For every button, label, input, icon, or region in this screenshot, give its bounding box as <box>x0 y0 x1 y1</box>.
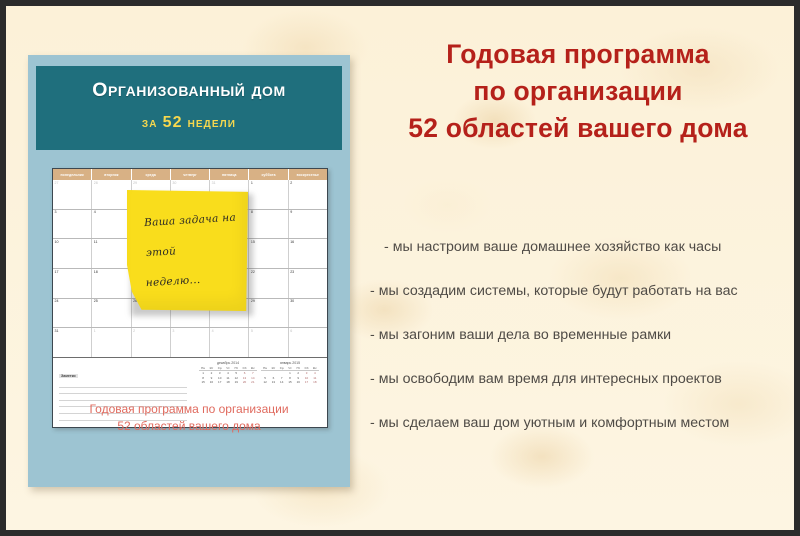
calendar-day-number: 30 <box>290 299 294 303</box>
benefit-item: -мы создадим системы, которые будут рабо… <box>370 283 790 299</box>
mini-month-day: 18 <box>311 380 319 384</box>
mini-month-week-row: 15161718192021 <box>199 380 257 384</box>
mini-month-day: 13 <box>269 380 277 384</box>
calendar-day-cell: 17 <box>53 269 92 298</box>
calendar-day-number: 16 <box>290 240 294 244</box>
calendar-day-number: 1 <box>251 181 253 185</box>
mini-month-calendar: январь 2015ПнВтСрЧтПтСбВс123456789101112… <box>261 361 319 385</box>
calendar-day-number: 17 <box>55 270 59 274</box>
calendar-day-header: воскресенье <box>289 169 327 180</box>
benefit-text: мы настроим ваше домашнее хозяйство как … <box>393 239 722 255</box>
calendar-day-number: 5 <box>251 329 253 333</box>
book-cover: Организованный дом за 52 недели понедель… <box>28 55 350 487</box>
mini-month-day: 18 <box>224 380 232 384</box>
calendar-day-cell: 25 <box>92 299 131 328</box>
note-line <box>59 381 187 388</box>
benefit-item: -мы загоним ваши дела во временные рамки <box>370 327 790 343</box>
mini-month-title: декабрь 2014 <box>199 361 257 365</box>
benefit-item: -мы сделаем ваш дом уютным и комфортным … <box>370 415 790 431</box>
calendar-week-row: 31123456 <box>53 327 327 357</box>
benefit-text: мы сделаем ваш дом уютным и комфортным м… <box>379 415 730 431</box>
calendar-day-number: 25 <box>94 299 98 303</box>
calendar-day-number: 27 <box>55 181 59 185</box>
calendar-day-number: 28 <box>94 181 98 185</box>
calendar-day-cell: 3 <box>53 210 92 239</box>
benefit-item: -мы настроим ваше домашнее хозяйство как… <box>370 239 790 255</box>
calendar-day-number: 18 <box>94 270 98 274</box>
calendar-day-cell: 31 <box>53 328 92 357</box>
calendar-day-header: четверг <box>171 169 210 180</box>
calendar-day-cell: 8 <box>249 210 288 239</box>
mini-month-day: 21 <box>249 380 257 384</box>
calendar-day-cell: 9 <box>289 210 327 239</box>
mini-month-day: 20 <box>240 380 248 384</box>
mini-month-day: 15 <box>286 380 294 384</box>
bullet-dash-icon: - <box>370 327 375 343</box>
headline-line3: 52 областей вашего дома <box>366 110 790 147</box>
benefit-item: -мы освободим вам время для интересных п… <box>370 371 790 387</box>
calendar-day-header: суббота <box>249 169 288 180</box>
calendar-day-cell: 1 <box>92 328 131 357</box>
benefit-text: мы освободим вам время для интересных пр… <box>379 371 722 387</box>
headline-line1: Годовая программа <box>366 36 790 73</box>
mini-month-day: 16 <box>207 380 215 384</box>
mini-month-day: 19 <box>232 380 240 384</box>
calendar-day-number: 2 <box>133 329 135 333</box>
calendar-day-cell: 4 <box>210 328 249 357</box>
sticky-note-text: Ваша задача на этой неделю... <box>125 184 253 312</box>
mini-month-title: январь 2015 <box>261 361 319 365</box>
cover-subtitle-number: 52 <box>163 114 183 131</box>
calendar-day-cell: 23 <box>289 269 327 298</box>
calendar-day-cell: 6 <box>289 328 327 357</box>
calendar-day-cell: 10 <box>53 239 92 268</box>
calendar-day-cell: 24 <box>53 299 92 328</box>
calendar-day-cell: 18 <box>92 269 131 298</box>
notes-label: Заметки <box>59 374 78 378</box>
calendar-day-number: 11 <box>94 240 98 244</box>
calendar-day-number: 29 <box>133 181 137 185</box>
slide-canvas: Организованный дом за 52 недели понедель… <box>6 6 794 530</box>
calendar-day-cell: 2 <box>132 328 171 357</box>
calendar-day-number: 24 <box>55 299 59 303</box>
mini-month-day: 17 <box>302 380 310 384</box>
mini-month-day: 16 <box>294 380 302 384</box>
mini-month-day: 17 <box>216 380 224 384</box>
calendar-day-cell: 1 <box>249 180 288 209</box>
sticky-note-line2: неделю... <box>145 262 253 298</box>
calendar-day-header: вторник <box>92 169 131 180</box>
calendar-day-number: 10 <box>55 240 59 244</box>
cover-subtitle: за 52 недели <box>36 114 342 132</box>
calendar-day-number: 1 <box>94 329 96 333</box>
calendar-day-number: 6 <box>290 329 292 333</box>
calendar-day-cell: 11 <box>92 239 131 268</box>
cover-title: Организованный дом <box>36 79 342 102</box>
mini-month-week-row: 12131415161718 <box>261 380 319 384</box>
calendar-day-cell: 15 <box>249 239 288 268</box>
calendar-day-number: 30 <box>172 181 176 185</box>
calendar-day-number: 3 <box>55 210 57 214</box>
calendar-day-header: пятница <box>210 169 249 180</box>
headline-line2: по организации <box>366 73 790 110</box>
calendar-day-cell: 16 <box>289 239 327 268</box>
calendar-day-header: понедельник <box>53 169 92 180</box>
cover-subtitle-suffix: недели <box>188 114 237 130</box>
mini-month-day: 14 <box>278 380 286 384</box>
bullet-dash-icon: - <box>370 371 375 387</box>
benefit-text: мы создадим системы, которые будут работ… <box>379 283 738 299</box>
sticky-note-line1: Ваша задача на этой <box>144 212 236 260</box>
mini-month-day: 15 <box>199 380 207 384</box>
bullet-dash-icon: - <box>370 415 375 431</box>
calendar-day-number: 31 <box>55 329 59 333</box>
calendar-day-number: 23 <box>290 270 294 274</box>
calendar-day-number: 3 <box>172 329 174 333</box>
mini-month-calendar: декабрь 2014ПнВтСрЧтПтСбВс12345678910111… <box>199 361 257 385</box>
note-line <box>59 394 187 401</box>
mini-month-day: 12 <box>261 380 269 384</box>
calendar-day-cell: 2 <box>289 180 327 209</box>
calendar-day-cell: 3 <box>171 328 210 357</box>
bullet-dash-icon: - <box>370 283 375 299</box>
calendar-day-cell: 22 <box>249 269 288 298</box>
calendar-day-number: 31 <box>212 181 216 185</box>
calendar-day-header-row: понедельниквторниксредачетвергпятницасуб… <box>53 169 327 180</box>
cover-caption-line1: Годовая программа по организации <box>36 401 342 418</box>
cover-header-band: Организованный дом за 52 недели <box>36 66 342 150</box>
cover-subtitle-prefix: за <box>142 114 158 130</box>
calendar-day-number: 4 <box>94 210 96 214</box>
benefit-text: мы загоним ваши дела во временные рамки <box>379 327 671 343</box>
calendar-day-number: 2 <box>290 181 292 185</box>
cover-caption: Годовая программа по организации 52 обла… <box>36 401 342 435</box>
calendar-day-header: среда <box>132 169 171 180</box>
note-line <box>59 388 187 395</box>
calendar-day-cell: 27 <box>53 180 92 209</box>
calendar-day-cell: 5 <box>249 328 288 357</box>
benefits-list: -мы настроим ваше домашнее хозяйство как… <box>370 239 790 459</box>
cover-caption-line2: 52 областей вашего дома <box>36 418 342 435</box>
calendar-day-number: 4 <box>212 329 214 333</box>
calendar-day-number: 9 <box>290 210 292 214</box>
bullet-dash-icon: - <box>384 239 389 255</box>
headline: Годовая программа по организации 52 обла… <box>366 36 790 147</box>
calendar-day-cell: 29 <box>249 299 288 328</box>
calendar-day-cell: 30 <box>289 299 327 328</box>
